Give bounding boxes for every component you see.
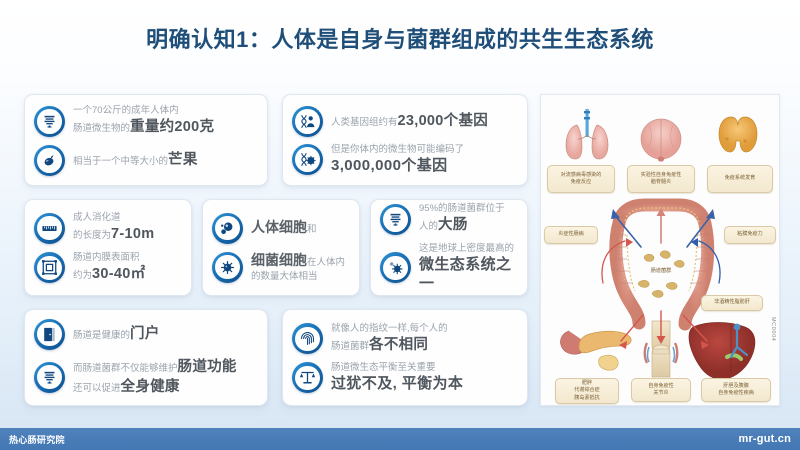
- card-cells: 人体细胞和 细菌细胞在人体内 的数量大体相当: [202, 199, 360, 296]
- box-flu: 对流感病毒感染的 免疫反应: [547, 165, 615, 193]
- box-liver-label: 肝胆及胰腺 自身免疫性疾病: [718, 383, 754, 398]
- fact-line-light: 而肠道菌群不仅能够维护: [73, 363, 178, 374]
- fact-text: 肠道微生态平衡至关重要 过犹不及, 平衡为本: [331, 362, 463, 393]
- fact-text: 就像人的指纹一样,每个人的 肠道菌群各不相同: [331, 323, 448, 356]
- fact-row: 肠道微生态平衡至关重要 过犹不及, 平衡为本: [292, 362, 519, 393]
- balance-icon: [292, 362, 323, 393]
- gut-flora-label: 肠道菌群: [641, 267, 681, 274]
- fact-line-light2: 肠道微生物的: [73, 123, 130, 134]
- fact-cards-region: 一个70公斤的成年人体内 肠道微生物的重量约200克 相当于一个中等大小的芒果: [24, 94, 528, 406]
- box-ibd: 炎症性肠病: [544, 226, 598, 244]
- box-flu-label: 对流感病毒感染的 免疫反应: [561, 172, 602, 187]
- fact-line-light: 相当于一个中等大小的: [73, 156, 168, 167]
- gut-microbiome-diagram-panel: 对流感病毒感染的 免疫反应 实验性自身免疫性 脑脊髓炎 免疫系统发育 炎症性肠病…: [540, 94, 780, 406]
- fact-text: 肠道内膜表面积 约为30-40㎡: [73, 252, 145, 285]
- fact-row: 细菌细胞在人体内 的数量大体相当: [212, 251, 351, 284]
- box-mucosal-label: 粘膜免疫力: [737, 231, 762, 238]
- page-title-wrap: 明确认知1：人体是自身与菌群组成的共生生态系统: [0, 22, 800, 54]
- box-eae: 实验性自身免疫性 脑脊髓炎: [627, 165, 695, 193]
- fact-line-light: 肠道内膜表面积: [73, 252, 145, 264]
- dna-microbe-icon: [292, 144, 323, 175]
- lungs-illustration: [566, 109, 608, 159]
- dna-human-icon: [292, 106, 323, 137]
- fact-line-bold: 芒果: [168, 152, 198, 168]
- fact-line-bold: 重量约200克: [130, 119, 214, 135]
- fact-line-light2: 的长度为: [73, 230, 111, 241]
- fact-row: 肠道是健康的门户: [34, 319, 259, 350]
- pancreas-illustration: [560, 331, 631, 370]
- card-genes: 人类基因组约有23,000个基因 但是你体内的微生物可能编码了 3,000,00…: [282, 94, 528, 186]
- fact-line-light: 人类基因组约有: [331, 117, 398, 128]
- fact-line-bold: 3,000,000个基因: [331, 156, 464, 175]
- footer-bar: 热心肠研究院 mr-gut.cn: [0, 428, 800, 450]
- footer-url[interactable]: mr-gut.cn: [738, 433, 791, 445]
- fact-line-light2: 还可以促进: [73, 383, 121, 394]
- diagram-watermark: MC0004: [770, 317, 776, 341]
- fact-text: 但是你体内的微生物可能编码了 3,000,000个基因: [331, 144, 464, 175]
- fact-text: 人类基因组约有23,000个基因: [331, 111, 488, 131]
- fact-line-bold: 人体细胞: [251, 219, 307, 235]
- fact-line-bold: 过犹不及, 平衡为本: [331, 374, 463, 393]
- fact-line-light2: 人的: [419, 221, 438, 232]
- fact-row: 95%的肠道菌群位于 人的大肠: [380, 203, 519, 236]
- fact-text: 95%的肠道菌群位于 人的大肠: [419, 203, 505, 236]
- bacteria-cell-icon: [212, 252, 243, 283]
- fact-row: 一个70公斤的成年人体内 肠道微生物的重量约200克: [34, 105, 259, 138]
- fact-text: 一个70公斤的成年人体内 肠道微生物的重量约200克: [73, 105, 214, 138]
- fact-line-light2: 肠道菌群: [331, 341, 369, 352]
- fact-row: 成人消化道 的长度为7-10m: [34, 212, 183, 245]
- fact-line-light: 这是地球上密度最高的: [419, 243, 519, 255]
- box-mucosal: 粘膜免疫力: [724, 226, 776, 244]
- fact-text: 肠道是健康的门户: [73, 324, 160, 344]
- fact-row: 相当于一个中等大小的芒果: [34, 145, 259, 176]
- fact-row: 肠道内膜表面积 约为30-40㎡: [34, 252, 183, 285]
- fact-line-light: 肠道是健康的: [73, 330, 130, 341]
- card-weight: 一个70公斤的成年人体内 肠道微生物的重量约200克 相当于一个中等大小的芒果: [24, 94, 268, 186]
- fact-line-bold: 30-40㎡: [92, 266, 145, 282]
- fact-line-light: 就像人的指纹一样,每个人的: [331, 323, 448, 335]
- fact-line-light: 肠道微生态平衡至关重要: [331, 362, 463, 374]
- fact-text: 相当于一个中等大小的芒果: [73, 150, 198, 170]
- card-fingerprint: 就像人的指纹一样,每个人的 肠道菌群各不相同 肠道微生态平衡至关重要 过犹不及,…: [282, 309, 528, 406]
- fact-row: 人类基因组约有23,000个基因: [292, 106, 519, 137]
- intestine-icon: [34, 106, 65, 137]
- fact-line-bold: 门户: [130, 326, 160, 342]
- door-icon: [34, 319, 65, 350]
- fact-line-bold: 肠道功能: [178, 359, 237, 375]
- fact-line-light2: 约为: [73, 270, 92, 281]
- box-nafld-label: 非酒精性脂肪肝: [714, 299, 750, 306]
- page-title: 明确认知1：人体是自身与菌群组成的共生生态系统: [0, 22, 800, 54]
- fact-line-light: 一个70公斤的成年人体内: [73, 105, 214, 117]
- box-arthritis-label: 自身免疫性 关节炎: [648, 383, 673, 398]
- ruler-icon: [34, 213, 65, 244]
- card-length: 成人消化道 的长度为7-10m 肠道内膜表面积 约为30-40㎡: [24, 199, 192, 296]
- fact-line-light: 95%的肠道菌群位于: [419, 203, 505, 215]
- fact-row: 人体细胞和: [212, 213, 351, 244]
- fact-text: 而肠道菌群不仅能够维护肠道功能 还可以促进全身健康: [73, 357, 237, 398]
- footer-brand: 热心肠研究院: [9, 433, 65, 446]
- box-immune-dev-label: 免疫系统发育: [725, 175, 756, 182]
- fact-line-light: 和: [307, 224, 317, 235]
- fact-row: 但是你体内的微生物可能编码了 3,000,000个基因: [292, 144, 519, 175]
- fact-row: 这是地球上密度最高的 微生态系统之一: [380, 243, 519, 294]
- fact-line-bold2: 全身健康: [121, 379, 180, 395]
- box-ibd-label: 炎症性肠病: [558, 231, 583, 238]
- fact-row: 而肠道菌群不仅能够维护肠道功能 还可以促进全身健康: [34, 357, 259, 398]
- fact-line-light: 在人体内: [307, 257, 345, 268]
- box-arthritis: 自身免疫性 关节炎: [631, 378, 691, 402]
- fact-line-bold: 23,000个基因: [398, 113, 489, 129]
- fact-line-bold: 细菌细胞: [251, 252, 307, 268]
- box-nafld: 非酒精性脂肪肝: [701, 295, 763, 311]
- liver-illustration: [689, 323, 755, 380]
- fact-line-light: 成人消化道: [73, 212, 154, 224]
- intestine-icon: [34, 362, 65, 393]
- fact-line-light: 但是你体内的微生物可能编码了: [331, 144, 464, 156]
- intestine-icon: [380, 204, 411, 235]
- human-cell-icon: [212, 213, 243, 244]
- fact-text: 成人消化道 的长度为7-10m: [73, 212, 154, 245]
- diagram-illustration: [541, 95, 780, 406]
- fact-line-bold: 大肠: [438, 217, 468, 233]
- thyroid-illustration: [719, 117, 757, 152]
- box-immune-dev: 免疫系统发育: [707, 165, 773, 193]
- fact-row: 就像人的指纹一样,每个人的 肠道菌群各不相同: [292, 323, 519, 356]
- box-obesity: 肥胖 代谢综合症 胰岛素抵抗: [555, 378, 619, 404]
- card-gateway: 肠道是健康的门户 而肠道菌群不仅能够维护肠道功能 还可以促进全身健康: [24, 309, 268, 406]
- mango-icon: [34, 145, 65, 176]
- brain-illustration: [641, 119, 681, 162]
- fingerprint-icon: [292, 323, 323, 354]
- box-eae-label: 实验性自身免疫性 脑脊髓炎: [641, 172, 682, 187]
- box-obesity-label: 肥胖 代谢综合症 胰岛素抵抗: [574, 380, 599, 402]
- fact-text: 人体细胞和: [251, 218, 317, 238]
- fact-line-bold: 微生态系统之一: [419, 255, 519, 293]
- fact-line-light2: 的数量大体相当: [251, 271, 345, 283]
- fact-line-bold: 7-10m: [111, 226, 154, 242]
- card-colon: 95%的肠道菌群位于 人的大肠 这是地球上密度最高的 微生态系统之一: [370, 199, 528, 296]
- fact-line-bold: 各不相同: [369, 337, 428, 353]
- box-liver: 肝胆及胰腺 自身免疫性疾病: [701, 378, 771, 402]
- microbe-density-icon: [380, 252, 411, 283]
- fact-text: 细菌细胞在人体内 的数量大体相当: [251, 251, 345, 284]
- area-icon: [34, 252, 65, 283]
- fact-text: 这是地球上密度最高的 微生态系统之一: [419, 243, 519, 294]
